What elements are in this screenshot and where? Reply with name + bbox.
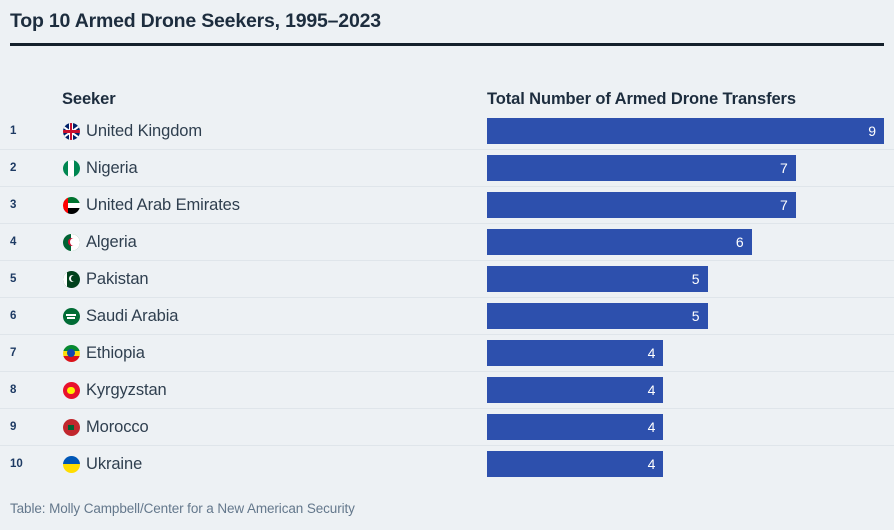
source-credit: Table: Molly Campbell/Center for a New A… [10,501,355,516]
table-row: 6Saudi Arabia5 [0,297,894,334]
column-header-transfers: Total Number of Armed Drone Transfers [487,90,796,109]
flag-ethiopia-icon [61,343,81,363]
row-country-label: Ethiopia [86,344,145,363]
row-country-label: Saudi Arabia [86,307,178,326]
table-body: 1United Kingdom92Nigeria73United Arab Em… [0,113,894,482]
row-country-label: United Kingdom [86,122,202,141]
bar-value-label: 9 [868,124,884,138]
bar-value-label: 7 [780,198,796,212]
bar-track: 4 [487,409,884,445]
bar-track: 5 [487,261,884,297]
row-rank: 5 [10,274,40,286]
bar: 7 [487,155,796,181]
title-block: Top 10 Armed Drone Seekers, 1995–2023 [0,0,894,33]
bar: 4 [487,377,663,403]
row-rank: 3 [10,200,40,212]
bar-value-label: 6 [736,235,752,249]
bar-track: 9 [487,113,884,149]
flag-pakistan-icon [61,269,81,289]
bar-track: 4 [487,372,884,408]
flag-kyrgyzstan-icon [61,380,81,400]
flag-nigeria-icon [61,158,81,178]
bar-track: 7 [487,150,884,186]
row-country-label: Pakistan [86,270,149,289]
table-row: 9Morocco4 [0,408,894,445]
flag-united-arab-emirates-icon [61,195,81,215]
bar: 9 [487,118,884,144]
row-rank: 10 [10,459,40,471]
bar-value-label: 7 [780,161,796,175]
table-row: 5Pakistan5 [0,260,894,297]
row-rank: 8 [10,385,40,397]
row-rank: 7 [10,348,40,360]
bar-track: 4 [487,446,884,482]
row-rank: 6 [10,311,40,323]
flag-united-kingdom-icon [61,121,81,141]
row-rank: 9 [10,422,40,434]
bar-value-label: 5 [692,309,708,323]
row-country-label: Algeria [86,233,137,252]
row-country-label: Nigeria [86,159,138,178]
bar: 4 [487,451,663,477]
table-row: 7Ethiopia4 [0,334,894,371]
chart-page: Top 10 Armed Drone Seekers, 1995–2023 Se… [0,0,894,530]
bar: 5 [487,266,708,292]
bar-value-label: 4 [648,383,664,397]
flag-saudi-arabia-icon [61,306,81,326]
bar-value-label: 4 [648,420,664,434]
table-row: 8Kyrgyzstan4 [0,371,894,408]
row-country-label: Morocco [86,418,149,437]
bar-value-label: 4 [648,346,664,360]
bar: 5 [487,303,708,329]
flag-algeria-icon [61,232,81,252]
bar-track: 5 [487,298,884,334]
bar-value-label: 5 [692,272,708,286]
row-country-label: Kyrgyzstan [86,381,167,400]
bar: 6 [487,229,752,255]
row-rank: 4 [10,237,40,249]
bar-track: 7 [487,187,884,223]
row-country-label: United Arab Emirates [86,196,240,215]
table-row: 3United Arab Emirates7 [0,186,894,223]
page-title: Top 10 Armed Drone Seekers, 1995–2023 [10,9,884,33]
table-row: 4Algeria6 [0,223,894,260]
bar: 7 [487,192,796,218]
bar: 4 [487,340,663,366]
row-country-label: Ukraine [86,455,142,474]
row-rank: 2 [10,163,40,175]
flag-ukraine-icon [61,454,81,474]
column-headers: Seeker Total Number of Armed Drone Trans… [0,67,894,109]
title-divider [10,43,884,46]
flag-morocco-icon [61,417,81,437]
column-header-seeker: Seeker [62,90,116,109]
table-row: 1United Kingdom9 [0,113,894,149]
bar-track: 6 [487,224,884,260]
bar: 4 [487,414,663,440]
table-row: 2Nigeria7 [0,149,894,186]
row-rank: 1 [10,126,40,138]
table-row: 10Ukraine4 [0,445,894,482]
bar-value-label: 4 [648,457,664,471]
bar-track: 4 [487,335,884,371]
